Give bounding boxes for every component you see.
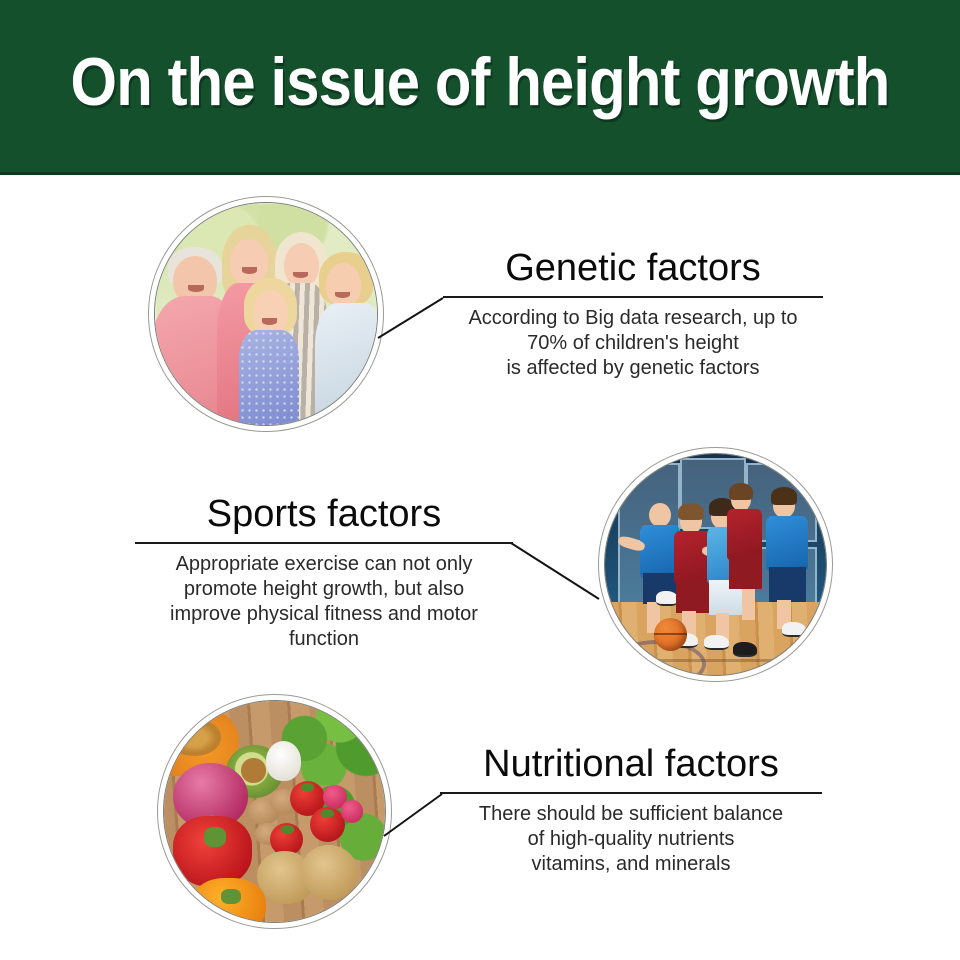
- nutrition-body-line-1: There should be sufficient balance: [440, 802, 822, 827]
- nutrition-body-line-3: vitamins, and minerals: [440, 852, 822, 877]
- basketball-photo-circle: [598, 447, 833, 682]
- sports-body-line-1: Appropriate exercise can not only: [135, 552, 513, 577]
- sports-heading: Sports factors: [135, 492, 513, 536]
- genetic-body-line-1: According to Big data research, up to: [443, 306, 823, 331]
- basketball-scene: [605, 454, 826, 675]
- sports-section: Sports factors Appropriate exercise can …: [135, 492, 513, 652]
- genetic-body-line-3: is affected by genetic factors: [443, 356, 823, 381]
- family-photo-circle: [148, 196, 384, 432]
- infographic-page: On the issue of height growth: [0, 0, 960, 960]
- sports-body-line-3: improve physical fitness and motor funct…: [135, 602, 513, 652]
- genetic-rule: [443, 296, 823, 298]
- family-scene: [155, 203, 377, 425]
- vegetables-photo: [163, 700, 386, 923]
- sports-leader-line: [505, 535, 605, 607]
- genetic-body-line-2: 70% of children's height: [443, 331, 823, 356]
- vegetables-photo-circle: [157, 694, 392, 929]
- sports-body-line-2: promote height growth, but also: [135, 577, 513, 602]
- sports-rule: [135, 542, 513, 544]
- page-title: On the issue of height growth: [58, 46, 903, 118]
- genetic-section: Genetic factors According to Big data re…: [443, 246, 823, 381]
- genetic-heading: Genetic factors: [443, 246, 823, 290]
- family-photo: [154, 202, 378, 426]
- vegetables-scene: [164, 701, 385, 922]
- basketball-photo: [604, 453, 827, 676]
- nutrition-section: Nutritional factors There should be suff…: [440, 742, 822, 877]
- nutrition-rule: [440, 792, 822, 794]
- nutrition-heading: Nutritional factors: [440, 742, 822, 786]
- header-banner: On the issue of height growth: [0, 0, 960, 175]
- nutrition-body-line-2: of high-quality nutrients: [440, 827, 822, 852]
